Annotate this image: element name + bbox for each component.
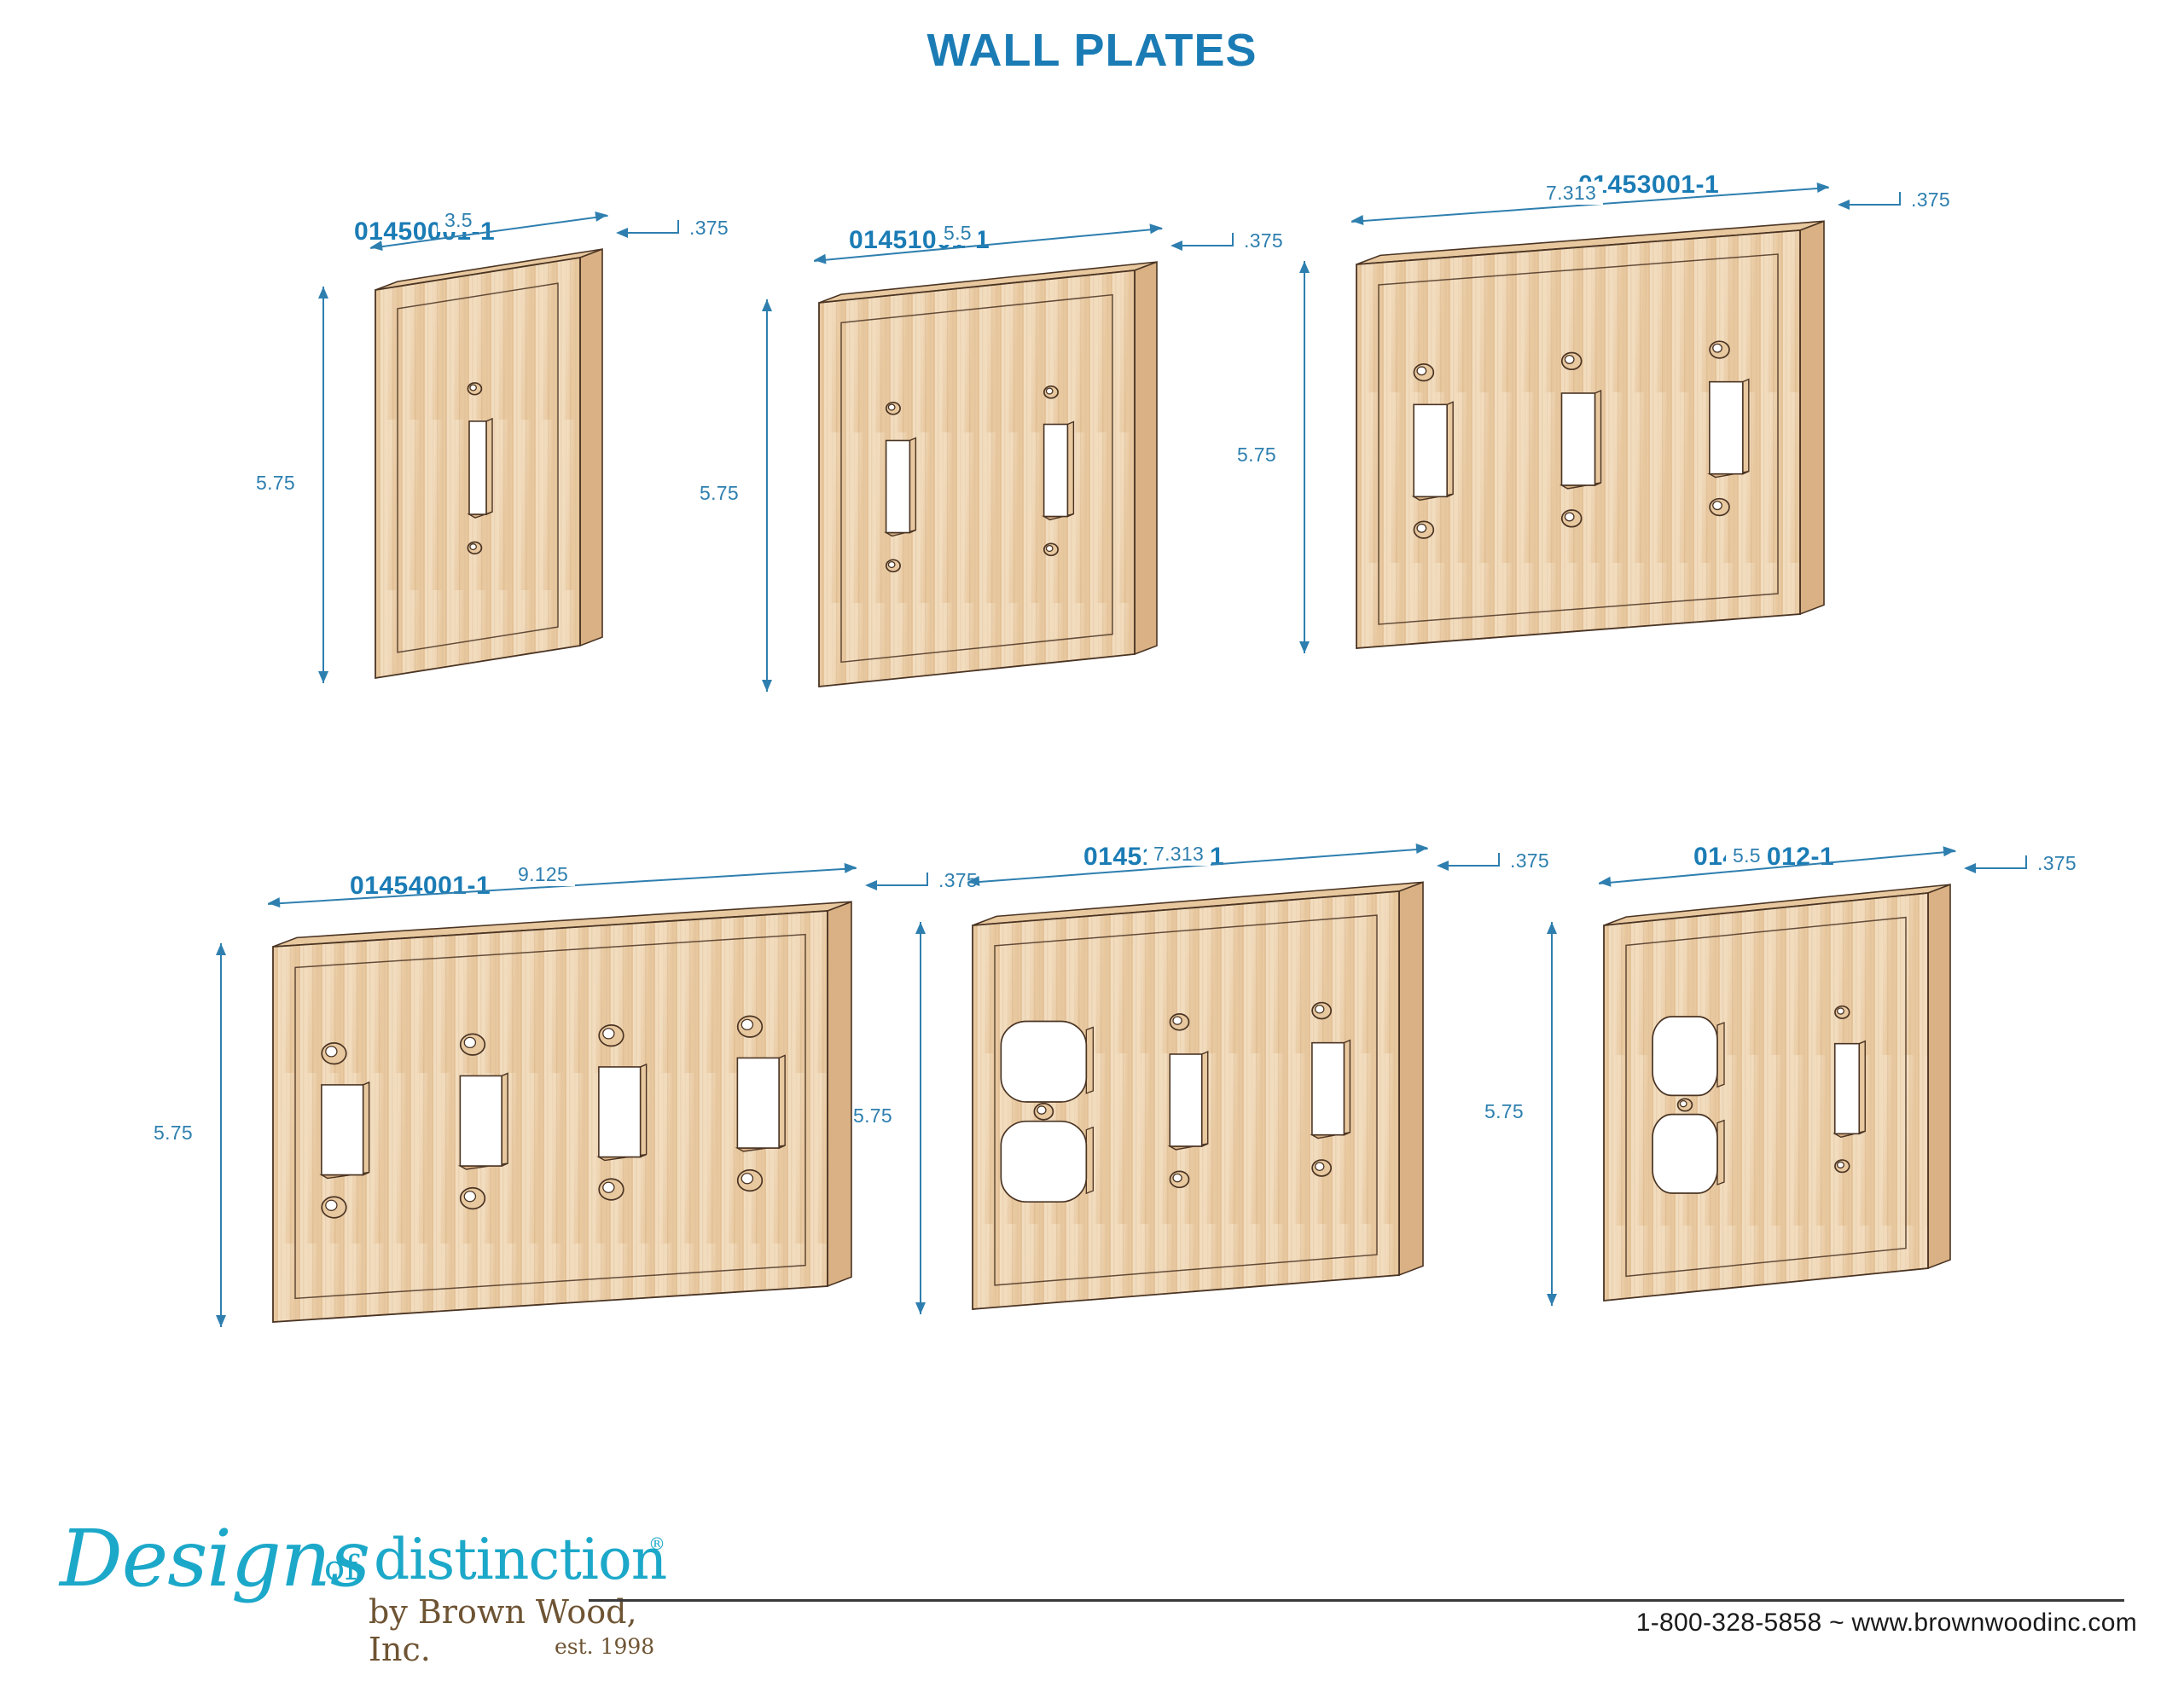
dimension-line-height <box>920 922 921 1314</box>
dimension-arrow-down <box>1547 1294 1557 1306</box>
dimension-arrow-right <box>845 862 857 873</box>
screw-hole-icon <box>461 1034 485 1055</box>
screw-hole-icon <box>599 1179 624 1200</box>
screw-hole-icon <box>468 542 481 554</box>
dimension-arrow-left <box>1598 877 1611 888</box>
screw-hole-icon <box>738 1016 763 1037</box>
dimension-tick-thickness <box>677 220 679 234</box>
dimension-tick-thickness <box>2025 855 2027 869</box>
screw-hole-icon <box>738 1170 763 1191</box>
plate-drawing <box>1587 884 1967 1326</box>
dimension-arrow-right <box>595 210 607 222</box>
dimension-arrow-up <box>1299 261 1310 273</box>
screw-hole-icon <box>468 383 481 395</box>
dimension-arrow-down <box>1299 641 1310 653</box>
logo-distinction-text: distinction <box>374 1527 666 1592</box>
dimension-label-width: 3.5 <box>438 209 479 232</box>
dimension-arrow-thickness <box>616 228 628 238</box>
dimension-label-thickness: .375 <box>1510 849 1549 872</box>
dimension-label-height: 5.75 <box>700 482 739 505</box>
dimension-label-width: 9.125 <box>511 863 575 886</box>
dimension-arrow-down <box>915 1302 926 1314</box>
dimension-line-height <box>1304 261 1305 653</box>
screw-hole-icon <box>1170 1014 1189 1030</box>
dimension-label-thickness: .375 <box>689 217 729 240</box>
screw-hole-icon <box>1414 521 1433 538</box>
plate-right-edge <box>1135 262 1157 654</box>
plate-right-edge <box>1928 884 1950 1268</box>
plate-drawing <box>256 902 868 1348</box>
footer-divider <box>589 1599 2124 1602</box>
screw-hole-icon <box>322 1197 346 1218</box>
dimension-label-width: 5.5 <box>937 222 979 245</box>
screw-hole-icon <box>1044 386 1058 398</box>
plate-front-face <box>819 270 1135 687</box>
dimension-arrow-right <box>1943 845 1956 856</box>
brand-logo: Designs of distinction ® by Brown Wood, … <box>60 1508 691 1670</box>
dimension-arrow-up <box>1547 922 1557 934</box>
page-title: WALL PLATES <box>0 24 2184 77</box>
screw-hole-icon <box>886 403 900 415</box>
dimension-arrow-left <box>268 898 281 909</box>
dimension-tick-thickness <box>1899 192 1901 206</box>
dimension-line-height <box>766 299 768 692</box>
dimension-arrow-up <box>318 287 328 299</box>
plate-drawing <box>1339 222 1841 674</box>
logo-designs-text: Designs <box>60 1513 369 1604</box>
dimension-line-height <box>1551 922 1553 1306</box>
dimension-tick-thickness <box>926 872 928 886</box>
plate-right-edge <box>1800 221 1824 614</box>
dimension-arrow-left <box>369 241 382 252</box>
screw-hole-icon <box>1170 1171 1189 1187</box>
screw-hole-icon <box>1678 1099 1693 1110</box>
screw-hole-icon <box>1044 543 1058 555</box>
dimension-arrow-right <box>1416 843 1429 854</box>
dimension-tick-thickness <box>1232 233 1234 246</box>
plate-right-edge <box>1399 882 1423 1275</box>
plate-drawing <box>955 883 1440 1335</box>
dimension-arrow-up <box>762 299 772 311</box>
dimension-arrow-up <box>915 922 926 934</box>
contact-info: 1-800-328-5858 ~ www.brownwoodinc.com <box>1636 1609 2137 1638</box>
screw-hole-icon <box>1562 510 1582 527</box>
plate-drawing <box>358 249 619 704</box>
dimension-line-height <box>322 287 324 683</box>
dimension-label-thickness: .375 <box>1911 188 1950 212</box>
dimension-label-width: 7.313 <box>1539 182 1603 205</box>
dimension-label-height: 5.75 <box>154 1122 193 1145</box>
dimension-arrow-down <box>216 1315 226 1327</box>
plate-right-edge <box>580 249 602 646</box>
dimension-arrow-thickness <box>1437 861 1449 871</box>
screw-hole-icon <box>1312 1160 1331 1176</box>
dimension-label-height: 5.75 <box>256 472 295 495</box>
screw-hole-icon <box>461 1188 485 1209</box>
logo-established-text: est. 1998 <box>555 1634 654 1659</box>
screw-hole-icon <box>1710 499 1729 516</box>
dimension-arrow-thickness <box>1170 241 1182 251</box>
dimension-label-thickness: .375 <box>2037 852 2077 875</box>
dimension-label-width: 5.5 <box>1726 844 1768 867</box>
dimension-arrow-right <box>1150 223 1163 234</box>
plate-drawing <box>802 262 1174 712</box>
dimension-arrow-left <box>1351 215 1364 226</box>
footer: Designs of distinction ® by Brown Wood, … <box>0 1499 2184 1687</box>
dimension-arrow-left <box>967 876 980 887</box>
dimension-label-height: 5.75 <box>1484 1100 1524 1123</box>
screw-hole-icon <box>1312 1003 1331 1019</box>
dimension-arrow-thickness <box>1964 863 1976 873</box>
dimension-arrow-down <box>318 671 328 683</box>
dimension-arrow-thickness <box>865 880 877 890</box>
dimension-arrow-down <box>762 680 772 692</box>
screw-hole-icon <box>1835 1006 1850 1018</box>
screw-hole-icon <box>1710 341 1729 358</box>
registered-trademark-icon: ® <box>648 1533 665 1554</box>
dimension-label-width: 7.313 <box>1147 843 1211 866</box>
dimension-arrow-left <box>813 254 826 265</box>
screw-hole-icon <box>1835 1160 1850 1172</box>
logo-of-text: of <box>324 1549 357 1588</box>
plate-front-face <box>1604 893 1928 1301</box>
screw-hole-icon <box>1034 1104 1053 1120</box>
dimension-arrow-up <box>216 943 226 955</box>
screw-hole-icon <box>1414 364 1433 381</box>
dimension-arrow-thickness <box>1838 200 1850 210</box>
dimension-label-thickness: .375 <box>1244 229 1283 252</box>
dimension-arrow-right <box>1817 182 1830 193</box>
plate-right-edge <box>828 901 851 1286</box>
dimension-line-height <box>220 943 222 1327</box>
screw-hole-icon <box>322 1043 346 1064</box>
dimension-label-height: 5.75 <box>853 1104 892 1128</box>
screw-hole-icon <box>886 559 900 571</box>
screw-hole-icon <box>599 1025 624 1046</box>
dimension-label-height: 5.75 <box>1237 443 1276 467</box>
dimension-tick-thickness <box>1498 853 1500 867</box>
screw-hole-icon <box>1562 353 1582 370</box>
